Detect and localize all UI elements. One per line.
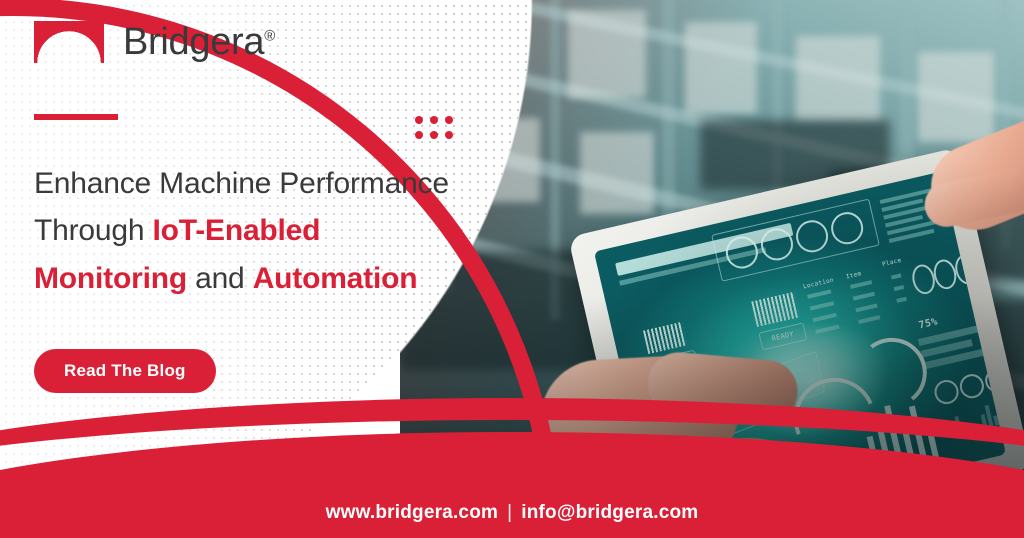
headline-line2-plain: Through <box>34 214 152 247</box>
red-accent-rule <box>34 114 118 120</box>
dot <box>415 116 423 124</box>
headline-highlight-monitoring: Monitoring <box>34 262 187 295</box>
dot <box>415 131 423 139</box>
brand-name: Bridgera® <box>123 23 275 61</box>
email-link[interactable]: info@bridgera.com <box>521 502 698 523</box>
registered-trademark-icon: ® <box>264 27 275 44</box>
brand-name-text: Bridgera <box>123 21 264 63</box>
red-dot-grid <box>415 116 453 139</box>
dot <box>430 131 438 139</box>
marketing-banner: READY READY Location Item Place <box>0 0 1024 538</box>
footer-separator: | <box>507 502 512 524</box>
dot <box>445 131 453 139</box>
footer-contact: www.bridgera.com|info@bridgera.com <box>0 502 1024 524</box>
headline-line1: Enhance Machine Performance <box>34 167 449 200</box>
website-link[interactable]: www.bridgera.com <box>326 502 498 523</box>
dot <box>430 116 438 124</box>
footer-bar: www.bridgera.com|info@bridgera.com <box>0 388 1024 538</box>
headline-line3-plain: and <box>187 262 253 295</box>
headline: Enhance Machine PerformanceThrough IoT-E… <box>34 160 514 302</box>
headline-highlight-automation: Automation <box>253 262 418 295</box>
dot <box>445 116 453 124</box>
read-the-blog-button[interactable]: Read The Blog <box>34 349 216 393</box>
bridgera-arch-logo-icon <box>34 21 104 63</box>
brand-logo[interactable]: Bridgera® <box>34 21 275 63</box>
headline-highlight-iot: IoT-Enabled <box>152 214 320 247</box>
